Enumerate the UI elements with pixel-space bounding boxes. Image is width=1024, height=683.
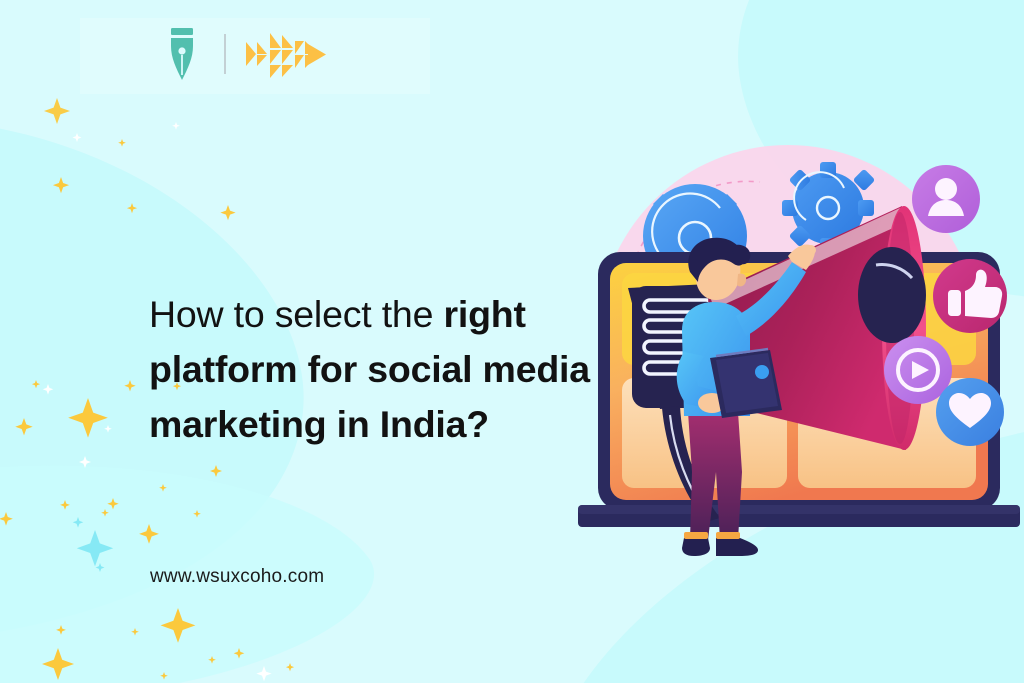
headline-bold-line3: marketing in India? <box>149 403 489 445</box>
social-icon-heart <box>936 378 1004 446</box>
pen-nib-logo-icon[interactable] <box>160 24 204 84</box>
headline-bold-right: right <box>443 293 525 335</box>
triangles-play-logo-icon[interactable] <box>246 26 328 82</box>
social-icon-user-avatar <box>912 165 980 233</box>
poster-canvas: How to select the right platform for soc… <box>0 0 1024 683</box>
brand-divider <box>224 34 226 74</box>
social-media-marketing-illustration <box>570 120 1024 560</box>
brand-bar <box>160 24 328 84</box>
headline-bold-line2: platform for social media <box>149 348 590 390</box>
social-icon-thumbs-up <box>933 259 1007 333</box>
page-title: How to select the right platform for soc… <box>149 287 619 452</box>
headline-regular-part: How to select the <box>149 293 443 335</box>
site-url: www.wsuxcoho.com <box>150 566 324 588</box>
